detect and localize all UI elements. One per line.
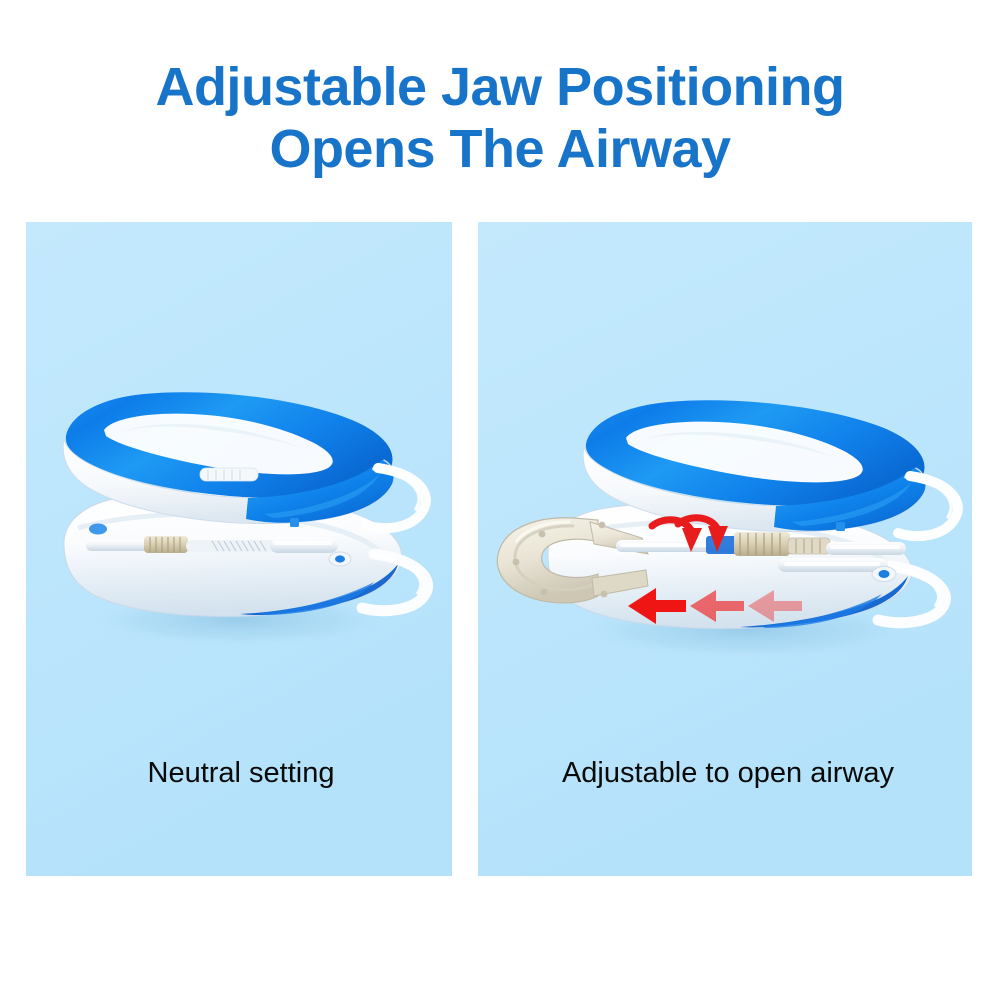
- side-blue-marker-square: [290, 518, 299, 527]
- comparison-panels: Neutral setting: [26, 222, 972, 876]
- page-title-line-2: Opens The Airway: [0, 118, 1000, 180]
- caption-adjustable-to-open-airway: Adjustable to open airway: [478, 757, 972, 790]
- adjustment-sleeve-highlight: [274, 541, 332, 545]
- adjustment-sleeve-highlight: [830, 545, 900, 549]
- caption-neutral-setting: Neutral setting: [26, 757, 452, 790]
- page-title: Adjustable Jaw Positioning Opens The Air…: [0, 56, 1000, 180]
- adjustment-sleeve: [270, 538, 338, 553]
- page-title-line-1: Adjustable Jaw Positioning: [0, 56, 1000, 118]
- side-blue-marker-left: [89, 524, 107, 535]
- panel-adjustable-to-open-airway: Adjustable to open airway: [478, 222, 972, 876]
- adjustment-brass-barrel: [144, 536, 188, 553]
- side-blue-marker-square: [836, 522, 845, 531]
- adjustment-secondary-barrel: [788, 538, 830, 554]
- adjustment-brass-barrel: [734, 532, 790, 556]
- anchor-post-blue-dot: [879, 570, 890, 578]
- panel-neutral-setting: Neutral setting: [26, 222, 452, 876]
- anchor-post-blue-dot: [335, 555, 345, 562]
- upper-channel-clip: [200, 468, 258, 481]
- poster-canvas: Adjustable Jaw Positioning Opens The Air…: [0, 0, 1000, 1000]
- adjustment-lower-link-highlight: [784, 562, 880, 566]
